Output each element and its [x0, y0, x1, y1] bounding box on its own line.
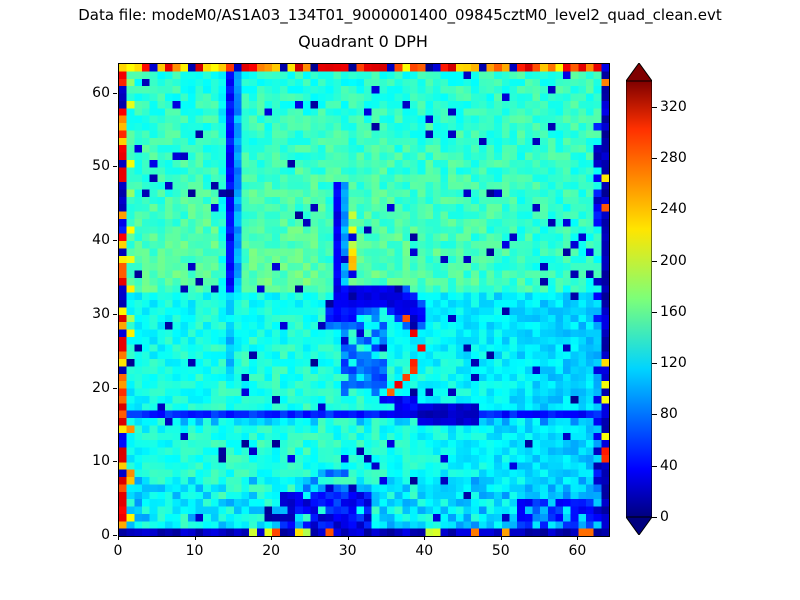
colorbar-tick-mark [652, 414, 657, 415]
colorbar-tick-label: 120 [660, 355, 687, 371]
colorbar-gradient [626, 63, 652, 535]
y-tick-label: 60 [74, 85, 110, 101]
colorbar-tick-mark [652, 363, 657, 364]
y-tick-mark [113, 240, 117, 241]
x-tick-mark [424, 536, 425, 540]
colorbar-tick-mark [652, 209, 657, 210]
x-tick-label: 20 [262, 543, 280, 559]
y-tick-mark [113, 166, 117, 167]
y-tick-label: 10 [74, 453, 110, 469]
colorbar-tick-mark [652, 466, 657, 467]
colorbar-tick-label: 0 [660, 509, 669, 525]
y-tick-mark [113, 314, 117, 315]
colorbar-tick-mark [652, 517, 657, 518]
y-tick-mark [113, 461, 117, 462]
y-tick-mark [113, 93, 117, 94]
y-tick-label: 30 [74, 306, 110, 322]
y-tick-label: 50 [74, 158, 110, 174]
colorbar-tick-mark [652, 158, 657, 159]
y-tick-mark [113, 388, 117, 389]
figure-canvas: Data file: modeM0/AS1A03_134T01_90000014… [0, 0, 800, 600]
y-tick-mark [113, 535, 117, 536]
colorbar-tick-label: 80 [660, 406, 678, 422]
colorbar[interactable]: 04080120160200240280320 [626, 63, 652, 535]
x-tick-mark [348, 536, 349, 540]
x-tick-mark [501, 536, 502, 540]
y-tick-label: 0 [74, 527, 110, 543]
x-tick-label: 40 [415, 543, 433, 559]
x-tick-mark [271, 536, 272, 540]
x-tick-label: 0 [114, 543, 123, 559]
colorbar-tick-mark [652, 107, 657, 108]
colorbar-tick-label: 320 [660, 99, 687, 115]
colorbar-tick-mark [652, 312, 657, 313]
colorbar-tick-label: 280 [660, 150, 687, 166]
axes-title: Quadrant 0 DPH [118, 32, 608, 51]
x-tick-label: 10 [186, 543, 204, 559]
colorbar-tick-label: 240 [660, 201, 687, 217]
y-tick-label: 20 [74, 380, 110, 396]
x-tick-label: 30 [339, 543, 357, 559]
colorbar-tick-label: 160 [660, 304, 687, 320]
figure-suptitle: Data file: modeM0/AS1A03_134T01_90000014… [0, 6, 800, 24]
x-tick-mark [577, 536, 578, 540]
heatmap-plot-area[interactable] [118, 63, 610, 537]
y-tick-label: 40 [74, 232, 110, 248]
colorbar-tick-mark [652, 261, 657, 262]
x-tick-label: 50 [492, 543, 510, 559]
x-tick-mark [118, 536, 119, 540]
x-tick-mark [195, 536, 196, 540]
colorbar-tick-label: 40 [660, 458, 678, 474]
x-tick-label: 60 [568, 543, 586, 559]
colorbar-tick-label: 200 [660, 253, 687, 269]
heatmap-image [119, 64, 609, 536]
